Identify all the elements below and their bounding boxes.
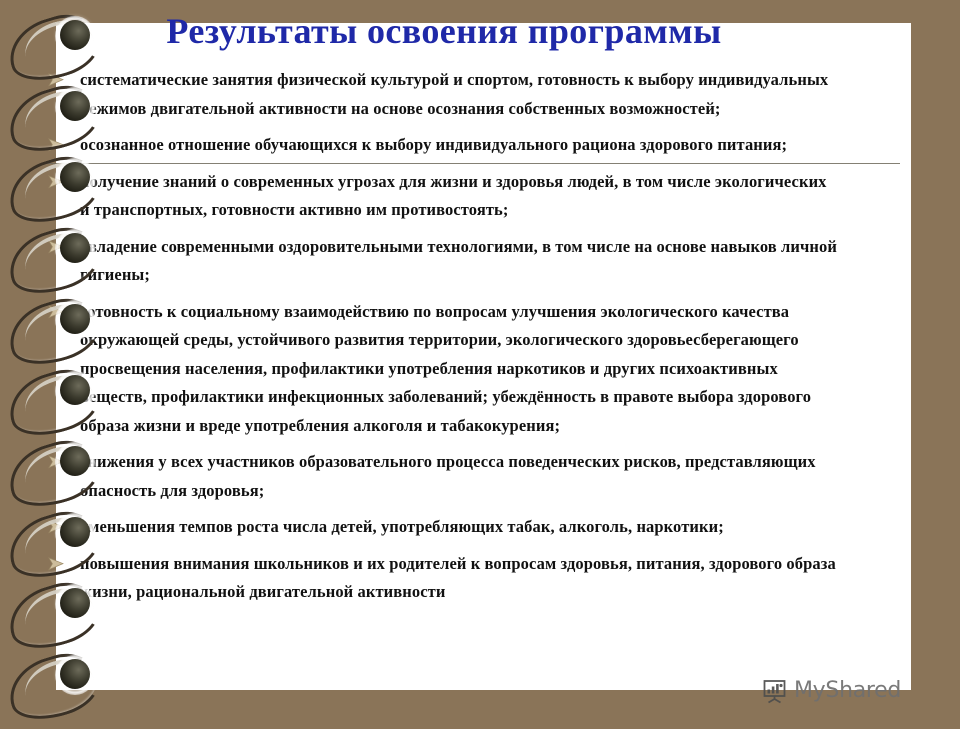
myshared-watermark: MyShared	[762, 678, 901, 704]
arrowhead-bullet-icon	[48, 519, 65, 536]
list-item: уменьшения темпов роста числа детей, упо…	[40, 513, 840, 542]
page-title: Результаты освоения программы	[64, 10, 824, 52]
presentation-board-icon	[762, 678, 788, 704]
list-item-label: снижения у всех участников образовательн…	[80, 448, 840, 505]
list-item-label: осознанное отношение обучающихся к выбор…	[80, 131, 840, 160]
list-item: повышения внимания школьников и их родит…	[40, 550, 840, 607]
list-item: готовность к социальному взаимодействию …	[40, 298, 840, 441]
arrowhead-bullet-icon	[48, 72, 65, 89]
list-item-label: повышения внимания школьников и их родит…	[80, 550, 840, 607]
list-item: овладение современными оздоровительными …	[40, 233, 840, 290]
list-item-label: систематические занятия физической культ…	[80, 66, 840, 123]
arrowhead-bullet-icon	[48, 304, 65, 321]
list-item-label: готовность к социальному взаимодействию …	[80, 298, 840, 441]
arrowhead-bullet-icon	[48, 137, 65, 154]
myshared-label: MyShared	[794, 680, 901, 702]
list-item-label: уменьшения темпов роста числа детей, упо…	[80, 513, 840, 542]
list-item: получение знаний о современных угрозах д…	[40, 168, 840, 225]
list-item-label: овладение современными оздоровительными …	[80, 233, 840, 290]
arrowhead-bullet-icon	[48, 556, 65, 573]
slide-canvas: Результаты освоения программы систематич…	[0, 0, 960, 720]
results-bullet-list: систематические занятия физической культ…	[40, 66, 840, 615]
arrowhead-bullet-icon	[48, 454, 65, 471]
list-item: снижения у всех участников образовательн…	[40, 448, 840, 505]
arrowhead-bullet-icon	[48, 239, 65, 256]
list-item-label: получение знаний о современных угрозах д…	[80, 168, 840, 225]
list-item: систематические занятия физической культ…	[40, 66, 840, 123]
list-item: осознанное отношение обучающихся к выбор…	[40, 131, 840, 160]
arrowhead-bullet-icon	[48, 174, 65, 191]
